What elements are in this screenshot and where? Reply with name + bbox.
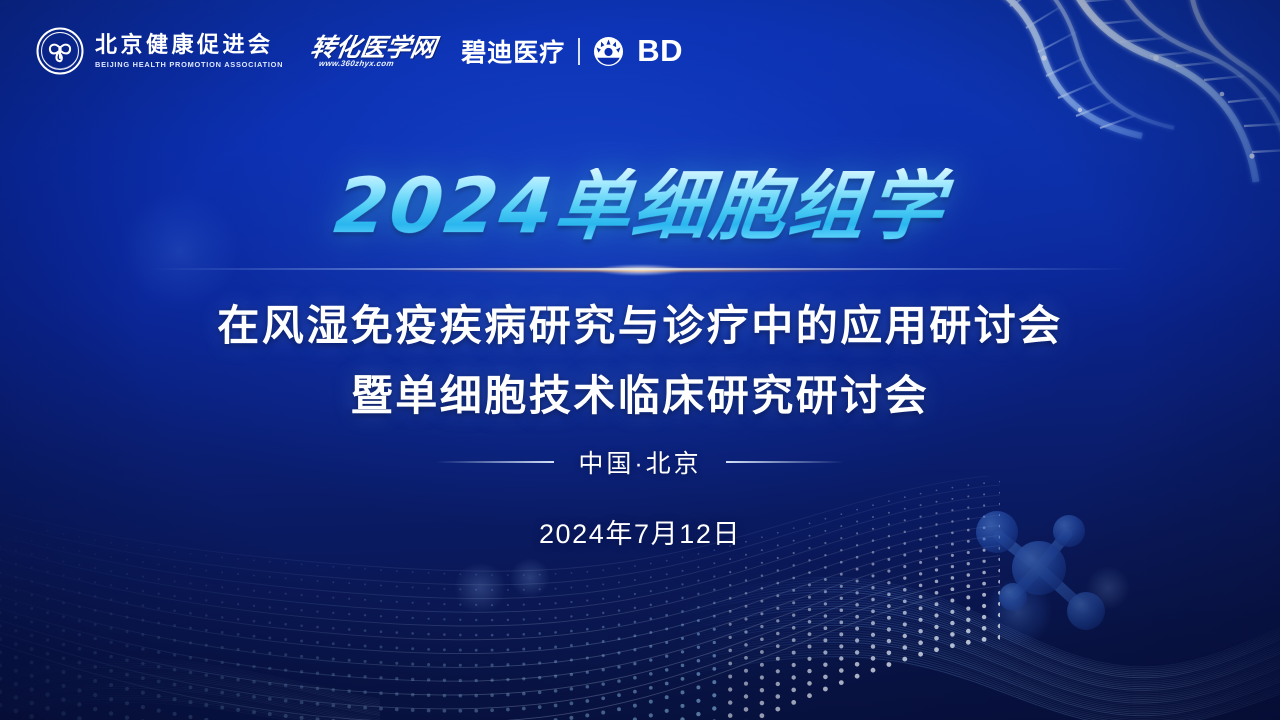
logo-zhuanhua-yixue-wang: 转化医学网 www.360zhyx.com — [311, 26, 431, 76]
location-rule-right — [726, 461, 844, 463]
lens-flare-streak — [320, 262, 960, 278]
flowing-wave-lines-left — [0, 580, 380, 720]
bd-chinese-name: 碧迪医疗 — [461, 33, 565, 69]
bhpa-chinese-name: 北京健康促进会 — [95, 33, 283, 56]
conference-poster: 北京健康促进会 BEIJING HEALTH PROMOTION ASSOCIA… — [0, 0, 1280, 720]
main-title: 2024单细胞组学 — [0, 168, 1280, 244]
location-text: 中国·北京 — [578, 444, 701, 480]
logo-bd: 碧迪医疗 BD — [461, 33, 683, 69]
location-row: 中国·北京 — [0, 444, 1280, 480]
bd-sunburst-icon — [593, 36, 624, 67]
bd-wordmark: BD — [637, 33, 683, 69]
clover-emblem-icon — [36, 27, 84, 75]
zhyx-url: www.360zhyx.com — [319, 59, 395, 68]
header-logo-bar: 北京健康促进会 BEIJING HEALTH PROMOTION ASSOCIA… — [36, 26, 683, 76]
bd-divider — [578, 38, 580, 65]
logo-beijing-health-promotion-association: 北京健康促进会 BEIJING HEALTH PROMOTION ASSOCIA… — [36, 27, 283, 75]
date-text: 2024年7月12日 — [0, 512, 1280, 551]
lens-flare-line — [150, 268, 1130, 270]
bhpa-english-name: BEIJING HEALTH PROMOTION ASSOCIATION — [95, 60, 283, 69]
subtitle-line-2: 暨单细胞技术临床研究研讨会 — [0, 362, 1280, 423]
location-rule-left — [436, 461, 554, 463]
subtitle-line-1: 在风湿免疫疾病研究与诊疗中的应用研讨会 — [0, 292, 1280, 353]
